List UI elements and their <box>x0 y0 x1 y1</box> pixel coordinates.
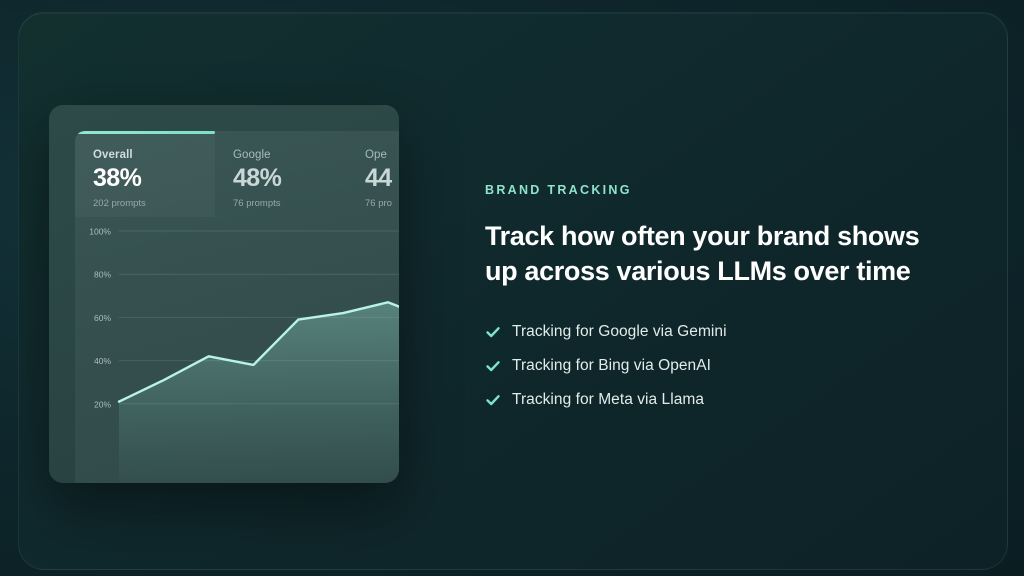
chart-y-tick-label: 20% <box>94 399 111 409</box>
stat-value: 38% <box>93 166 215 191</box>
list-item-label: Tracking for Google via Gemini <box>512 323 727 341</box>
check-icon <box>485 358 501 374</box>
copy-column: BRAND TRACKING Track how often your bran… <box>485 183 985 409</box>
stat-card-google[interactable]: Google 48% 76 prompts <box>215 131 347 217</box>
active-tab-accent-bar <box>75 131 215 134</box>
slide-background: Overall 38% 202 prompts Google 48% 76 pr… <box>0 0 1024 576</box>
list-item: Tracking for Meta via Llama <box>485 391 985 409</box>
feature-list: Tracking for Google via Gemini Tracking … <box>485 323 985 409</box>
chart-area-fill <box>119 302 399 483</box>
stat-value: 44 <box>365 166 399 191</box>
chart-y-tick-label: 40% <box>94 356 111 366</box>
stat-sublabel: 76 prompts <box>233 198 347 209</box>
list-item: Tracking for Bing via OpenAI <box>485 357 985 375</box>
slide-frame: Overall 38% 202 prompts Google 48% 76 pr… <box>18 12 1008 570</box>
list-item: Tracking for Google via Gemini <box>485 323 985 341</box>
stat-label: Ope <box>365 149 399 161</box>
stat-label: Overall <box>93 149 215 161</box>
stat-card-openai[interactable]: Ope 44 76 pro <box>347 131 399 217</box>
chart-y-tick-label: 80% <box>94 270 111 280</box>
stat-sublabel: 202 prompts <box>93 198 215 209</box>
product-screenshot-card: Overall 38% 202 prompts Google 48% 76 pr… <box>49 105 399 483</box>
chart-y-tick-label: 100% <box>89 227 111 237</box>
stat-label: Google <box>233 149 347 161</box>
check-icon <box>485 392 501 408</box>
product-screenshot-panel: Overall 38% 202 prompts Google 48% 76 pr… <box>75 131 399 483</box>
list-item-label: Tracking for Meta via Llama <box>512 391 704 409</box>
page-title: Track how often your brand shows up acro… <box>485 219 955 289</box>
chart-y-axis-labels: 20%40%60%80%100% <box>89 227 111 410</box>
stat-strip: Overall 38% 202 prompts Google 48% 76 pr… <box>75 131 399 217</box>
chart-svg: 20%40%60%80%100% <box>75 217 399 483</box>
stat-value: 48% <box>233 166 347 191</box>
stat-sublabel: 76 pro <box>365 198 399 209</box>
list-item-label: Tracking for Bing via OpenAI <box>512 357 711 375</box>
check-icon <box>485 324 501 340</box>
stat-card-overall[interactable]: Overall 38% 202 prompts <box>75 131 215 217</box>
visibility-chart: 20%40%60%80%100% <box>75 217 399 483</box>
eyebrow-label: BRAND TRACKING <box>485 183 985 197</box>
chart-y-tick-label: 60% <box>94 313 111 323</box>
